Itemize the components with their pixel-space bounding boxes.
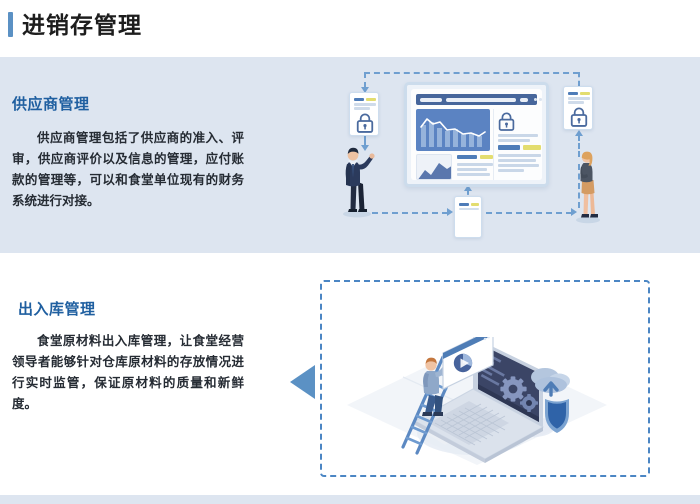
browser-search-pill	[446, 98, 516, 102]
browser-menu-dot-2	[539, 98, 542, 101]
section-heading-inbound: 出入库管理	[18, 298, 96, 319]
businessman-figure	[334, 140, 390, 218]
kpi-bar-blue	[457, 155, 477, 159]
secure-detail-panel	[493, 109, 542, 180]
isometric-scene	[345, 337, 610, 467]
browser-action-pill	[520, 98, 528, 102]
lock-icon	[498, 112, 515, 131]
businesswoman-figure	[566, 146, 616, 224]
card-l-line-yellow	[366, 98, 376, 101]
section-body-supplier: 供应商管理包括了供应商的准入、评审，供应商评价以及信息的管理，应付账款的管理等，…	[12, 128, 244, 212]
doc-line-2	[459, 208, 479, 210]
lock-icon	[570, 107, 588, 127]
browser-url-pill	[420, 98, 442, 102]
businesswoman-svg	[566, 146, 616, 224]
detail-line-5	[498, 164, 539, 167]
detail-line-1	[498, 134, 538, 137]
kpi-bar-yellow	[480, 155, 493, 159]
card-l-line-blue	[354, 98, 364, 101]
chart-svg	[416, 109, 490, 151]
footer-band	[0, 495, 700, 504]
page-header: 进销存管理	[0, 0, 700, 57]
kpi-line-1	[457, 163, 493, 166]
arrow-up-right	[575, 130, 583, 136]
dashboard-screen	[411, 89, 542, 180]
businessman-svg	[334, 140, 390, 218]
title-accent-bar	[8, 12, 13, 37]
browser-dashboard-window[interactable]	[404, 82, 549, 187]
browser-menu-dot-1	[534, 98, 537, 101]
document-card-bottom[interactable]	[454, 196, 482, 238]
detail-bar-blue	[498, 145, 520, 150]
warehouse-laptop-illustration	[290, 277, 660, 487]
bar-line-chart-panel	[416, 109, 490, 151]
detail-line-4	[498, 159, 536, 162]
section-heading-supplier: 供应商管理	[12, 93, 90, 114]
detail-line-2	[498, 139, 530, 142]
dash-line-bottom-right	[486, 212, 572, 214]
card-l-line-2	[354, 103, 376, 106]
detail-line-3	[498, 154, 541, 157]
page-title: 进销存管理	[22, 11, 142, 39]
card-r-line-3	[568, 101, 584, 104]
card-r-line-yellow	[580, 92, 590, 95]
lock-icon	[356, 113, 374, 133]
supplier-dashboard-illustration	[326, 68, 626, 246]
dash-line-top-left	[364, 72, 366, 88]
kpi-line-3	[457, 173, 490, 176]
doc-line-yellow	[471, 203, 479, 206]
section-body-inbound: 食堂原材料出入库管理，让食堂经营领导者能够针对仓库原材料的存放情况进行实时监管，…	[12, 331, 244, 415]
dash-line-top	[364, 72, 579, 74]
card-r-line-blue	[568, 92, 578, 95]
detail-bar-yellow	[523, 145, 541, 150]
thumbnail-svg	[417, 155, 452, 180]
card-l-line-3	[354, 107, 370, 110]
dash-line-top-right	[578, 72, 580, 86]
doc-line-blue	[459, 203, 469, 206]
thumbnail-area-chart	[416, 154, 452, 180]
card-r-line-2	[568, 97, 590, 100]
page-root: 进销存管理 供应商管理 供应商管理包括了供应商的准入、评审，供应商评价以及信息的…	[0, 0, 700, 504]
arrow-right-1	[447, 208, 453, 216]
kpi-line-2	[457, 168, 487, 171]
left-triangle-pointer	[290, 365, 315, 399]
detail-line-6	[498, 169, 524, 172]
lock-document-card-left[interactable]	[349, 92, 379, 136]
lock-document-card-right[interactable]	[563, 86, 593, 130]
browser-title-bar	[416, 94, 537, 105]
